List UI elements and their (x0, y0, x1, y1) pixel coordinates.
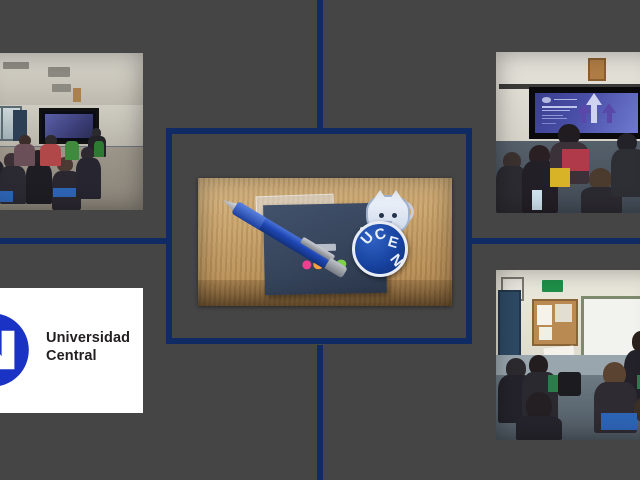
photo-classroom-top-left (0, 53, 143, 210)
connector-vertical-bottom (317, 345, 323, 480)
connector-horizontal-left (0, 238, 168, 244)
logo-line-2: Central (46, 348, 130, 366)
collage-canvas: Universidad Central (0, 0, 640, 480)
ucen-logo-mark (0, 310, 32, 390)
logo-wordmark: Universidad Central (46, 330, 130, 365)
connector-horizontal-right (471, 238, 640, 244)
connector-vertical-top (317, 0, 323, 134)
photo-classroom-top-right (496, 52, 640, 213)
photo-classroom-bottom-right (496, 270, 640, 440)
photo-merch-center: U C E N (198, 178, 452, 306)
universidad-central-logo-card: Universidad Central (0, 288, 143, 413)
center-photo-frame: U C E N (166, 128, 472, 344)
logo-line-1: Universidad (46, 330, 130, 348)
